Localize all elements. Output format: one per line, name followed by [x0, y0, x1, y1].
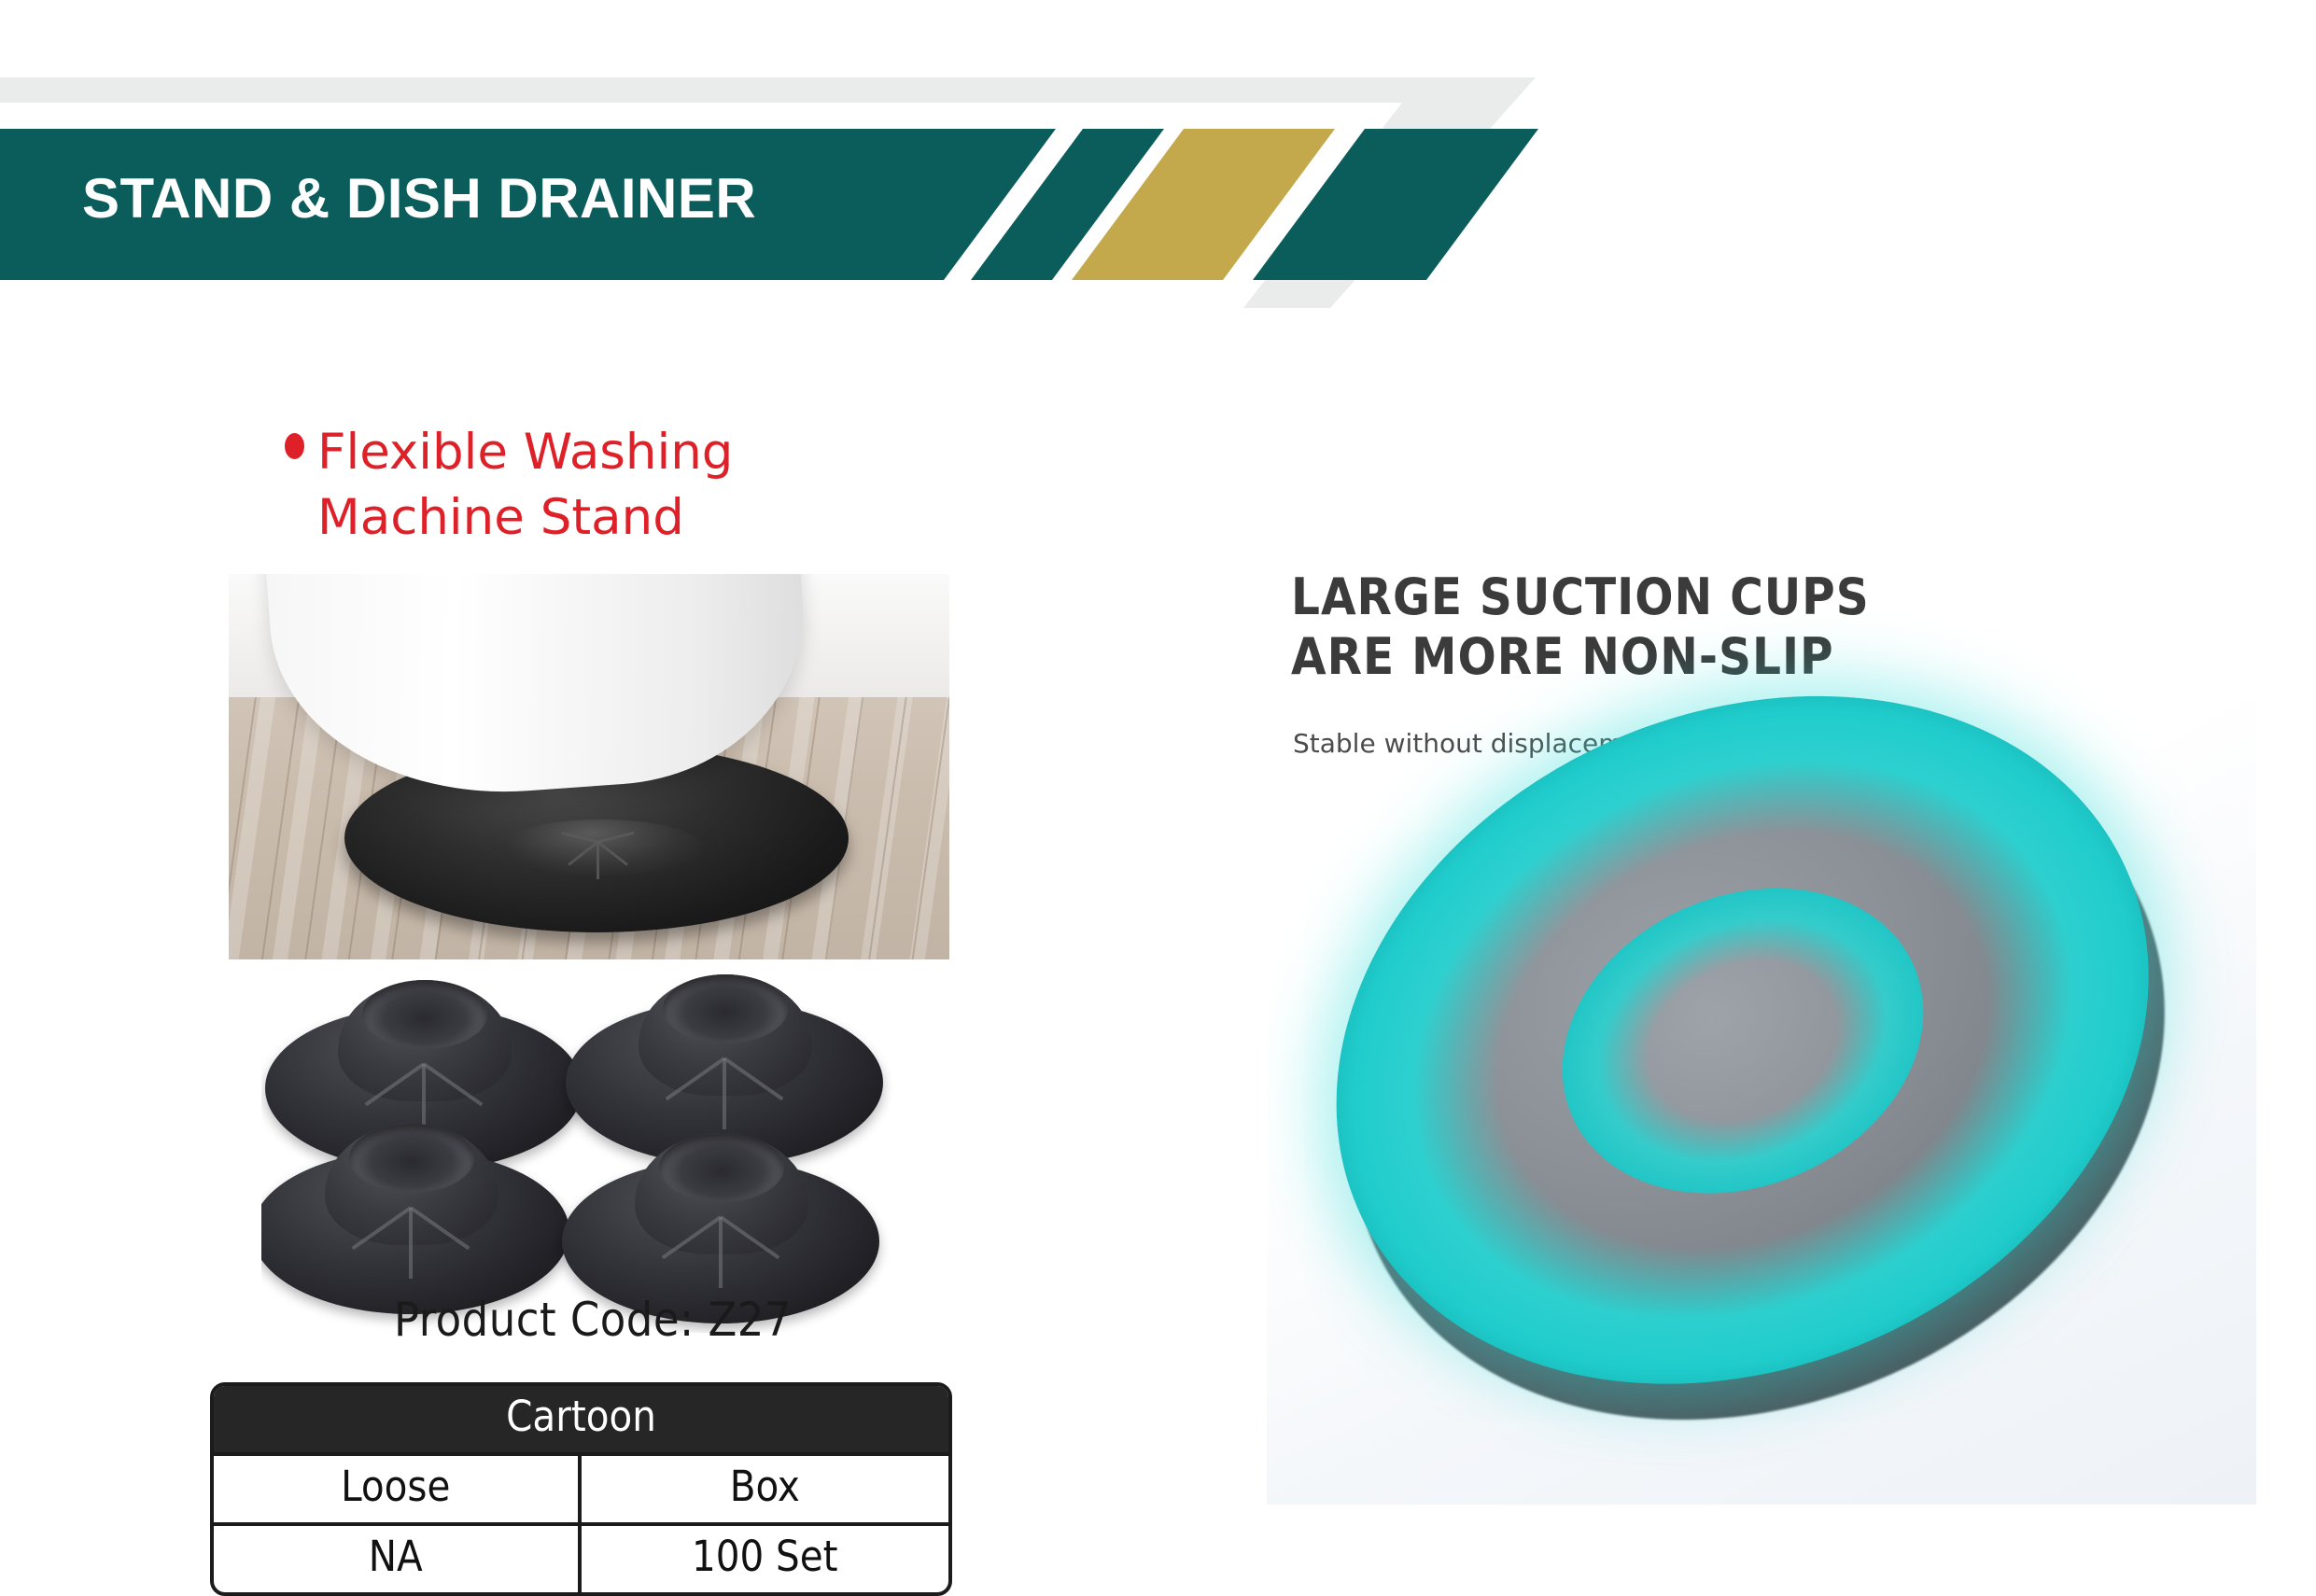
foot-spoke [409, 1208, 413, 1279]
table-column-header-loose: Loose [214, 1456, 582, 1522]
table-column-header-box: Box [582, 1456, 949, 1522]
rubber-pad-hub [500, 819, 702, 876]
table-row-values: NA 100 Set [214, 1522, 948, 1592]
suction-cup-title-line1: LARGE SUCTION CUPS [1291, 567, 1870, 626]
pad-rib [597, 842, 599, 879]
product-heading: Flexible Washing Machine Stand [317, 420, 896, 551]
table-value-box: 100 Set [582, 1526, 949, 1592]
table-header-cartoon: Cartoon [214, 1386, 948, 1452]
table-value-loose: NA [214, 1526, 582, 1592]
page-title: STAND & DISH DRAINER [82, 166, 756, 231]
foot-cup [349, 1124, 474, 1193]
photo-washing-machine-leg [229, 574, 949, 959]
table-row-columns: Loose Box [214, 1452, 948, 1522]
rubber-foot [261, 1118, 569, 1314]
suction-disc-illustration [1285, 672, 2247, 1493]
foot-cup [663, 974, 788, 1043]
suction-cup-feature-panel: LARGE SUCTION CUPS ARE MORE NON-SLIP Sta… [1267, 551, 2256, 1505]
product-heading-line1: Flexible Washing [317, 424, 733, 481]
bullet-dot-icon [285, 433, 304, 459]
photo-four-rubber-feet [261, 959, 896, 1333]
foot-spoke [723, 1058, 726, 1129]
foot-cup [659, 1133, 784, 1202]
packaging-spec-table: Cartoon Loose Box NA 100 Set [210, 1382, 952, 1596]
suction-disc [1267, 571, 2256, 1505]
foot-spoke [719, 1217, 723, 1288]
foot-cup [362, 980, 487, 1049]
header-banner: STAND & DISH DRAINER [0, 0, 2316, 308]
product-heading-line2: Machine Stand [317, 489, 684, 546]
product-code-label: Product Code: Z27 [229, 1293, 957, 1347]
banner-stripes-graphic [0, 0, 2316, 308]
